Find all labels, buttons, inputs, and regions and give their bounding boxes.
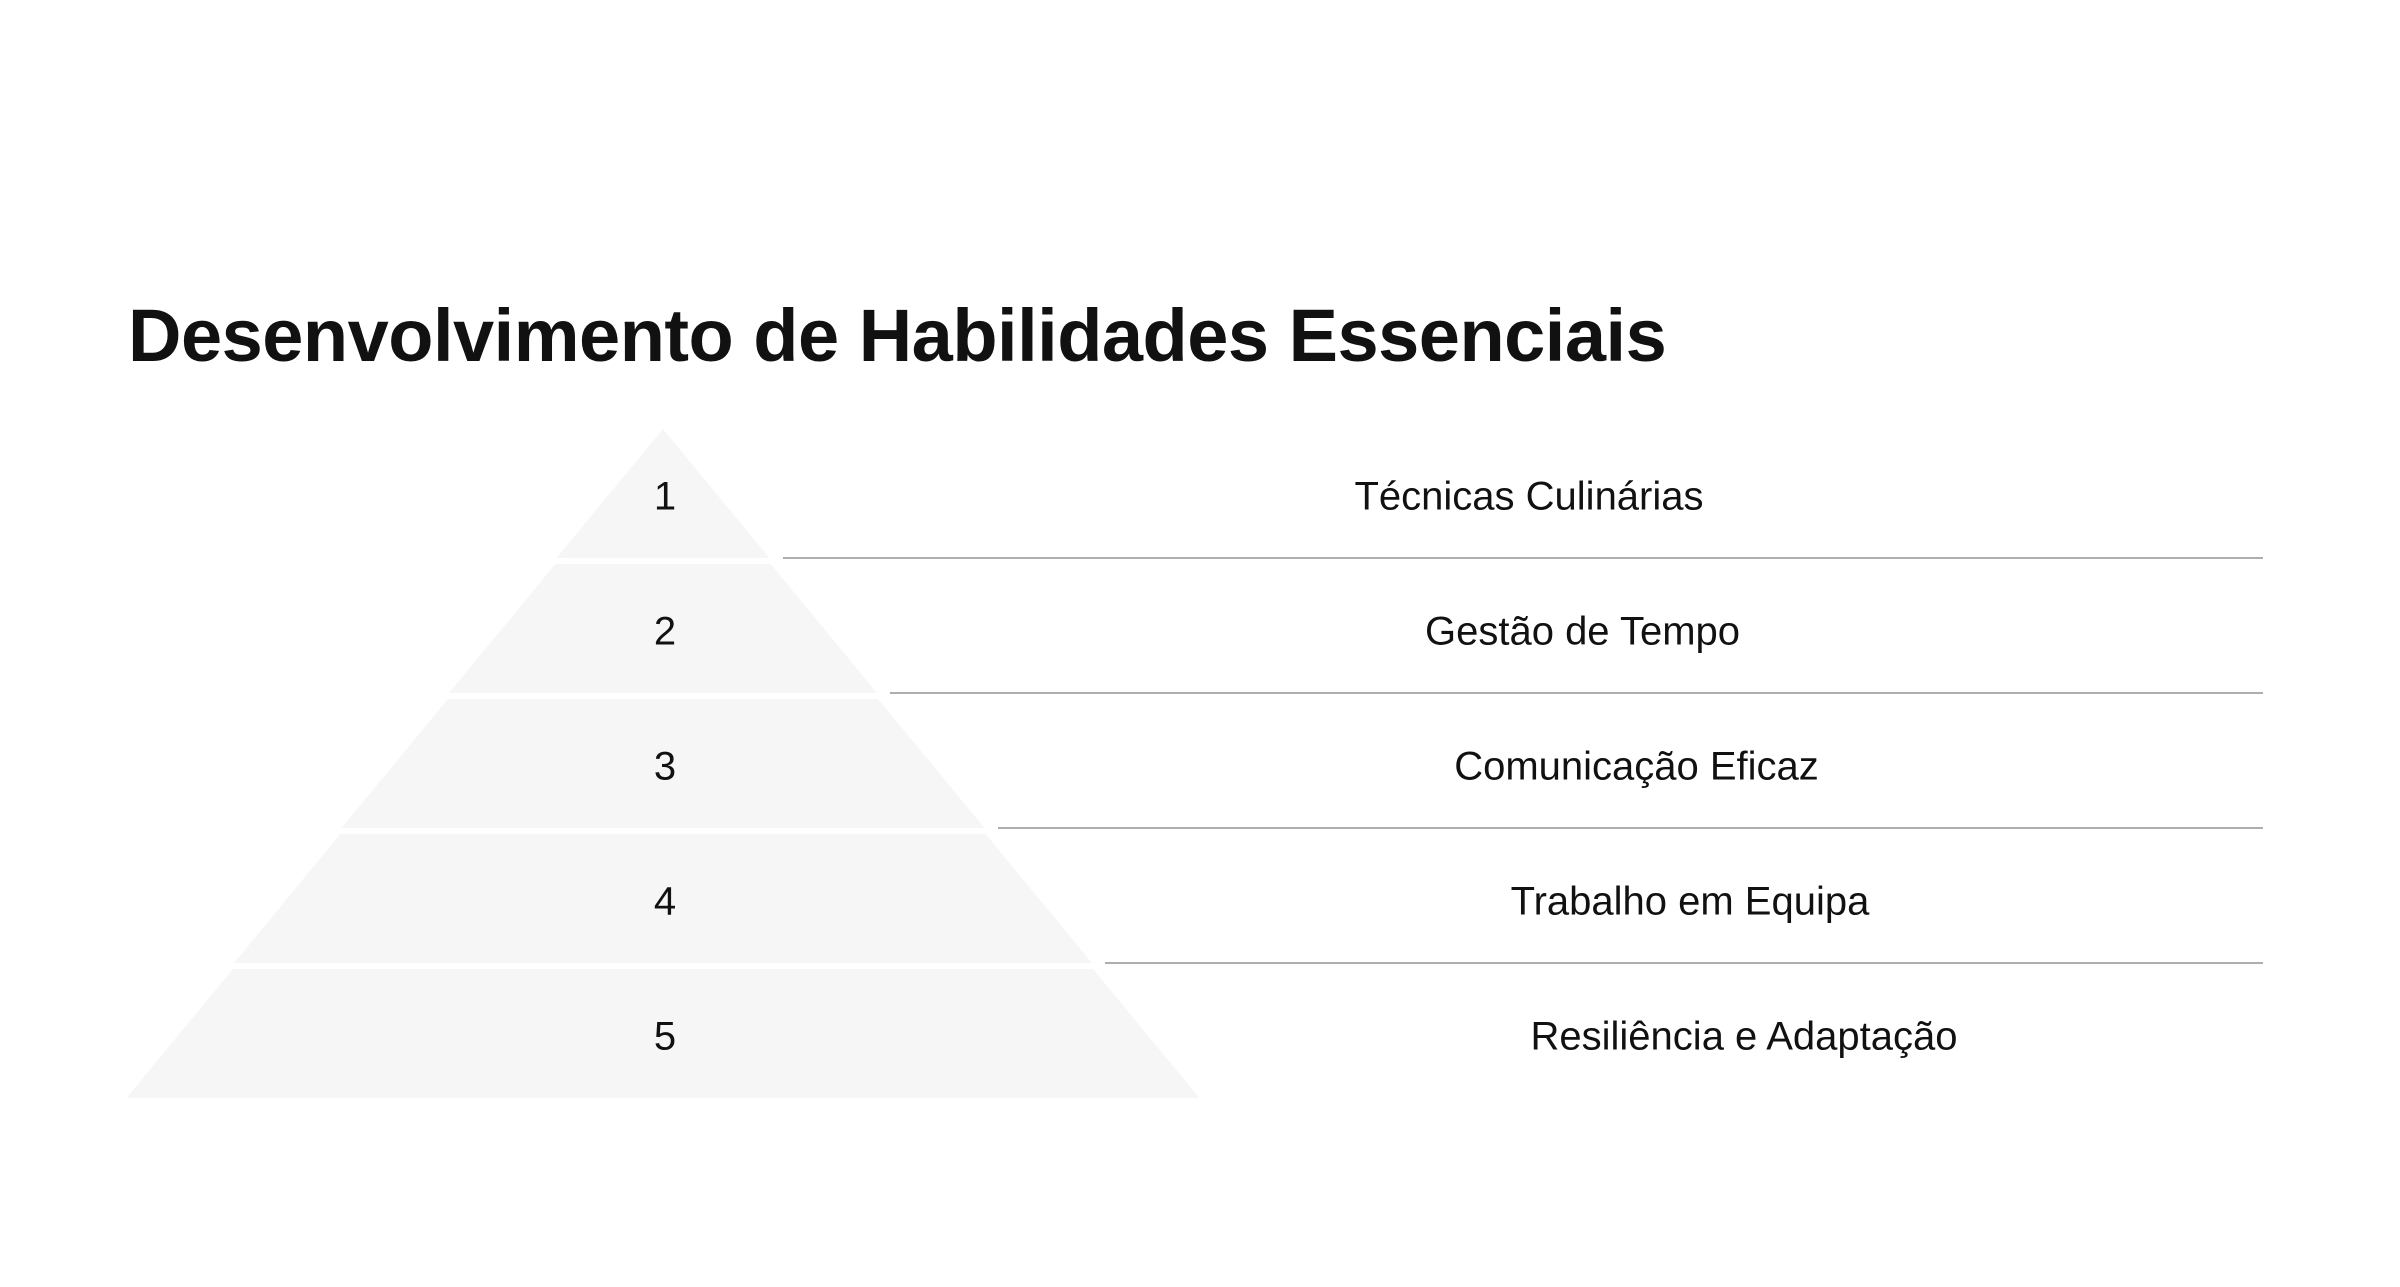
pyramid-level-2[interactable]: 2 Gestão de Tempo: [0, 564, 2400, 699]
pyramid-chart: 1 Técnicas Culinárias 2 Gestão de Tempo …: [0, 0, 2400, 1287]
pyramid-level-3-label: Comunicação Eficaz: [1010, 744, 2263, 789]
pyramid-level-2-label: Gestão de Tempo: [902, 609, 2263, 654]
pyramid-level-3-divider: [998, 827, 2263, 829]
pyramid-level-4[interactable]: 4 Trabalho em Equipa: [0, 834, 2400, 969]
pyramid-level-1[interactable]: 1 Técnicas Culinárias: [0, 429, 2400, 564]
pyramid-level-5[interactable]: 5 Resiliência e Adaptação: [0, 969, 2400, 1104]
pyramid-levels: 1 Técnicas Culinárias 2 Gestão de Tempo …: [0, 0, 2400, 1287]
pyramid-level-1-divider: [783, 557, 2263, 559]
slide-canvas: Desenvolvimento de Habilidades Essenciai…: [0, 0, 2400, 1287]
pyramid-level-4-rank: 4: [605, 879, 725, 924]
pyramid-level-3[interactable]: 3 Comunicação Eficaz: [0, 699, 2400, 834]
pyramid-level-3-rank: 3: [605, 744, 725, 789]
pyramid-level-2-rank: 2: [605, 609, 725, 654]
pyramid-level-2-divider: [890, 692, 2263, 694]
pyramid-level-4-label: Trabalho em Equipa: [1117, 879, 2263, 924]
pyramid-level-1-label: Técnicas Culinárias: [795, 474, 2263, 519]
pyramid-level-4-divider: [1105, 962, 2263, 964]
pyramid-level-1-rank: 1: [605, 474, 725, 519]
pyramid-level-5-rank: 5: [605, 1014, 725, 1059]
pyramid-level-5-label: Resiliência e Adaptação: [1225, 1014, 2263, 1059]
